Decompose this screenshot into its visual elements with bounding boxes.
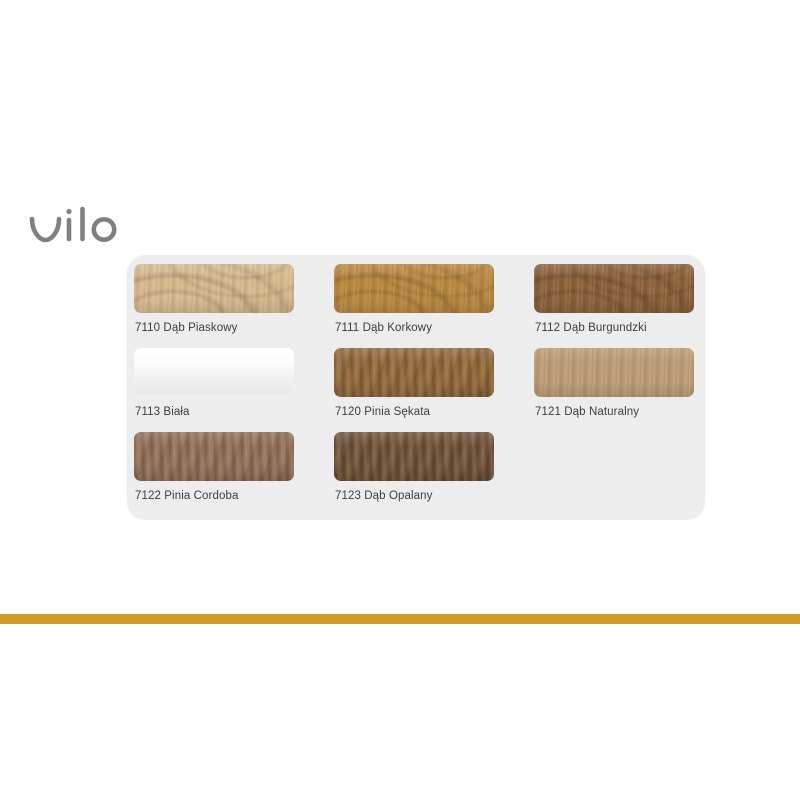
swatch-label: 7112 Dąb Burgundzki: [535, 322, 647, 334]
swatch-shading: [534, 264, 694, 313]
swatch-shading: [534, 348, 694, 397]
swatch-chip[interactable]: [134, 264, 294, 313]
accent-bar: [0, 614, 800, 624]
vilo-wordmark-icon: [28, 203, 124, 247]
swatch-chip[interactable]: [534, 348, 694, 397]
swatch-shading: [334, 348, 494, 397]
swatch-shading: [134, 432, 294, 481]
swatch-label: 7111 Dąb Korkowy: [335, 322, 432, 334]
swatch-label: 7121 Dąb Naturalny: [535, 406, 639, 418]
swatch-item-7122[interactable]: 7122 Pinia Cordoba: [134, 432, 334, 516]
swatch-panel: 7110 Dąb Piaskowy 7111 Dąb Korkowy 7112 …: [127, 255, 705, 520]
swatch-item-7110[interactable]: 7110 Dąb Piaskowy: [134, 264, 334, 348]
swatch-chip[interactable]: [334, 432, 494, 481]
swatch-label: 7120 Pinia Sękata: [335, 406, 430, 418]
swatch-item-7123[interactable]: 7123 Dąb Opalany: [334, 432, 534, 516]
swatch-chip[interactable]: [134, 432, 294, 481]
brand-logo: [28, 196, 228, 254]
swatch-item-7120[interactable]: 7120 Pinia Sękata: [334, 348, 534, 432]
swatch-item-7112[interactable]: 7112 Dąb Burgundzki: [534, 264, 734, 348]
swatch-label: 7110 Dąb Piaskowy: [135, 322, 238, 334]
swatch-shading: [334, 264, 494, 313]
swatch-shading: [134, 264, 294, 313]
swatch-item-7121[interactable]: 7121 Dąb Naturalny: [534, 348, 734, 432]
swatch-label: 7122 Pinia Cordoba: [135, 490, 238, 502]
swatch-chip[interactable]: [334, 348, 494, 397]
swatch-item-7111[interactable]: 7111 Dąb Korkowy: [334, 264, 534, 348]
swatch-chip[interactable]: [334, 264, 494, 313]
swatch-label: 7123 Dąb Opalany: [335, 490, 433, 502]
swatch-grid: 7110 Dąb Piaskowy 7111 Dąb Korkowy 7112 …: [134, 264, 698, 516]
swatch-shading: [134, 348, 294, 397]
swatch-label: 7113 Biała: [135, 406, 190, 418]
swatch-chip[interactable]: [534, 264, 694, 313]
swatch-item-7113[interactable]: 7113 Biała: [134, 348, 334, 432]
swatch-chip[interactable]: [134, 348, 294, 397]
swatch-shading: [334, 432, 494, 481]
